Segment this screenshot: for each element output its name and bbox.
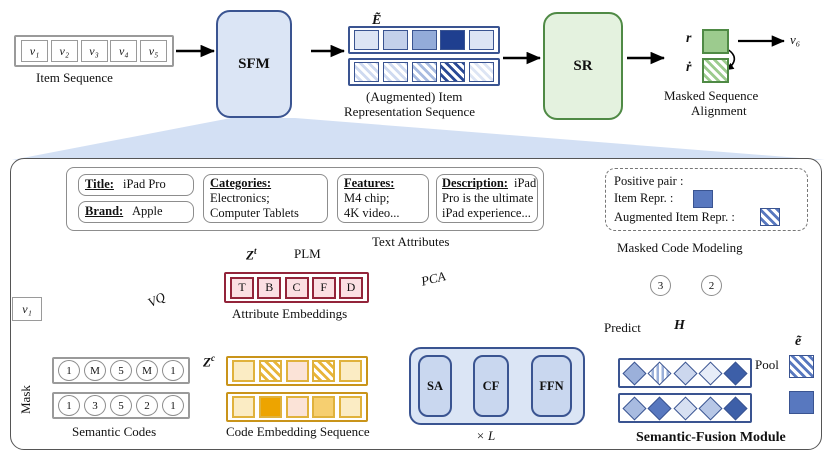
attr-line-categories-1: Electronics; bbox=[210, 191, 270, 206]
sr-block[interactable]: SR bbox=[543, 12, 623, 120]
attr-value-description: iPad bbox=[514, 176, 536, 191]
code-embed-cell bbox=[312, 360, 335, 382]
r-dot-representation-box bbox=[702, 58, 729, 83]
code-circle: M bbox=[136, 360, 158, 381]
hidden-diamond bbox=[723, 396, 747, 420]
code-circle: 1 bbox=[58, 360, 80, 381]
attr-line-description-2: iPad experience... bbox=[442, 206, 531, 221]
pooled-augmented-repr bbox=[789, 355, 814, 378]
attr-embed-cell: B bbox=[257, 277, 281, 299]
item-cell: v₁ bbox=[21, 40, 48, 62]
semantic-codes-masked-row: 1 M 5 M 1 bbox=[52, 357, 190, 384]
plm-label: PLM bbox=[294, 246, 321, 262]
code-circle: 2 bbox=[136, 395, 158, 416]
alignment-caption-line2: Alignment bbox=[691, 103, 747, 119]
attr-value-brand: Apple bbox=[132, 204, 163, 219]
code-circle: 1 bbox=[162, 395, 184, 416]
r-label: r bbox=[686, 31, 691, 47]
hidden-diamond bbox=[622, 361, 646, 385]
semantic-codes-original-row: 1 3 5 2 1 bbox=[52, 392, 190, 419]
hidden-diamond bbox=[673, 396, 697, 420]
text-attributes-caption: Text Attributes bbox=[372, 234, 449, 250]
code-embed-cell bbox=[232, 360, 255, 382]
semantic-codes-caption: Semantic Codes bbox=[72, 424, 156, 440]
encoder-block-ffn[interactable]: FFN bbox=[531, 355, 572, 417]
v6-output-label: v₆ bbox=[790, 32, 800, 48]
attr-embed-cell: C bbox=[285, 277, 309, 299]
aug-repr-cell bbox=[354, 62, 379, 82]
mask-label: Mask bbox=[18, 385, 34, 414]
attr-line-features-2: 4K video... bbox=[344, 206, 400, 221]
legend-augmented-item-repr-label: Augmented Item Repr. : bbox=[614, 210, 735, 225]
code-circle: 1 bbox=[58, 395, 80, 416]
encoder-block-sa[interactable]: SA bbox=[418, 355, 452, 417]
repr-cell bbox=[354, 30, 379, 50]
code-embed-cell bbox=[286, 360, 309, 382]
code-embed-cell bbox=[232, 396, 255, 418]
attr-key-categories: Categories: bbox=[210, 176, 271, 191]
code-embed-cell bbox=[286, 396, 309, 418]
attribute-card-description: Description: iPad Pro is the ultimate iP… bbox=[436, 174, 538, 223]
code-embed-cell bbox=[312, 396, 335, 418]
predicted-code-1: 3 bbox=[650, 275, 671, 296]
code-circle: 5 bbox=[110, 395, 132, 416]
attribute-card-title: Title: iPad Pro bbox=[78, 174, 194, 196]
repr-cell bbox=[412, 30, 437, 50]
aug-repr-cell bbox=[440, 62, 465, 82]
item-cell: v₃ bbox=[81, 40, 108, 62]
alignment-caption-line1: Masked Sequence bbox=[664, 88, 758, 104]
item-representation-row bbox=[348, 26, 500, 54]
hidden-states-bottom-row bbox=[618, 393, 752, 423]
legend-item-repr-label: Item Repr. : bbox=[614, 191, 673, 206]
attr-key-features: Features: bbox=[344, 176, 394, 191]
code-circle: M bbox=[84, 360, 106, 381]
attr-value-title: iPad Pro bbox=[123, 177, 166, 192]
representation-caption-line1: (Augmented) Item bbox=[366, 89, 462, 105]
attr-key-description: Description: bbox=[442, 176, 508, 191]
repr-cell bbox=[469, 30, 494, 50]
zoom-connector-trapezoid bbox=[12, 118, 825, 160]
attribute-embeddings-caption: Attribute Embeddings bbox=[232, 306, 347, 322]
sfm-block[interactable]: SFM bbox=[216, 10, 292, 118]
module-title: Semantic-Fusion Module bbox=[636, 430, 786, 446]
source-item-box: v₁ bbox=[12, 297, 42, 321]
hidden-diamond bbox=[723, 361, 747, 385]
item-cell: v₄ bbox=[110, 40, 137, 62]
attr-key-title: Title: bbox=[85, 177, 114, 192]
attr-embed-cell: T bbox=[230, 277, 254, 299]
item-sequence-bar: v₁ v₂ v₃ v₄ v₅ bbox=[14, 35, 174, 67]
item-cell: v₅ bbox=[140, 40, 167, 62]
item-cell: v₂ bbox=[51, 40, 78, 62]
legend-positive-pair-label: Positive pair : bbox=[614, 174, 683, 189]
hidden-diamond bbox=[622, 396, 646, 420]
zt-symbol: Zt bbox=[246, 246, 256, 263]
code-embed-cell bbox=[259, 396, 282, 418]
code-embedding-masked-row bbox=[226, 356, 368, 386]
code-circle: 5 bbox=[110, 360, 132, 381]
attribute-card-features: Features: M4 chip; 4K video... bbox=[337, 174, 429, 223]
attr-embed-cell: D bbox=[339, 277, 363, 299]
zc-symbol: Zc bbox=[203, 353, 215, 370]
repr-cell bbox=[440, 30, 465, 50]
code-embed-cell bbox=[259, 360, 282, 382]
code-embedding-caption: Code Embedding Sequence bbox=[226, 424, 370, 440]
repr-cell bbox=[383, 30, 408, 50]
r-representation-box bbox=[702, 29, 729, 54]
predicted-code-2: 2 bbox=[701, 275, 722, 296]
hidden-diamond bbox=[698, 396, 722, 420]
masked-code-modeling-caption: Masked Code Modeling bbox=[617, 240, 743, 256]
code-embedding-original-row bbox=[226, 392, 368, 422]
e-tilde-output-symbol: ẽ bbox=[795, 334, 801, 350]
attr-key-brand: Brand: bbox=[85, 204, 123, 219]
attr-line-features-1: M4 chip; bbox=[344, 191, 389, 206]
code-embed-cell bbox=[339, 360, 362, 382]
legend-augmented-item-repr-swatch bbox=[760, 208, 780, 226]
hidden-diamond bbox=[648, 361, 672, 385]
pooled-item-repr bbox=[789, 391, 814, 414]
attribute-embeddings-row: T B C F D bbox=[224, 272, 369, 303]
attr-line-categories-2: Computer Tablets bbox=[210, 206, 299, 221]
code-circle: 1 bbox=[162, 360, 184, 381]
attribute-card-categories: Categories: Electronics; Computer Tablet… bbox=[203, 174, 328, 223]
hidden-diamond bbox=[648, 396, 672, 420]
legend-item-repr-swatch bbox=[693, 190, 713, 208]
augmented-item-representation-row bbox=[348, 58, 500, 86]
code-embed-cell bbox=[339, 396, 362, 418]
encoder-repeat-label: × L bbox=[476, 428, 495, 444]
aug-repr-cell bbox=[412, 62, 437, 82]
hidden-states-top-row bbox=[618, 358, 752, 388]
aug-repr-cell bbox=[469, 62, 494, 82]
hidden-diamond bbox=[698, 361, 722, 385]
attribute-card-brand: Brand: Apple bbox=[78, 201, 194, 223]
h-symbol: H bbox=[674, 318, 685, 334]
item-sequence-caption: Item Sequence bbox=[36, 70, 113, 86]
code-circle: 3 bbox=[84, 395, 106, 416]
predict-label: Predict bbox=[604, 320, 641, 336]
aug-repr-cell bbox=[383, 62, 408, 82]
hidden-diamond bbox=[673, 361, 697, 385]
attr-embed-cell: F bbox=[312, 277, 336, 299]
pool-label: Pool bbox=[755, 357, 779, 373]
encoder-block-cf[interactable]: CF bbox=[473, 355, 509, 417]
attr-line-description-1: Pro is the ultimate bbox=[442, 191, 533, 206]
r-dot-label: ṙ bbox=[686, 60, 691, 76]
representation-caption-line2: Representation Sequence bbox=[344, 104, 475, 120]
